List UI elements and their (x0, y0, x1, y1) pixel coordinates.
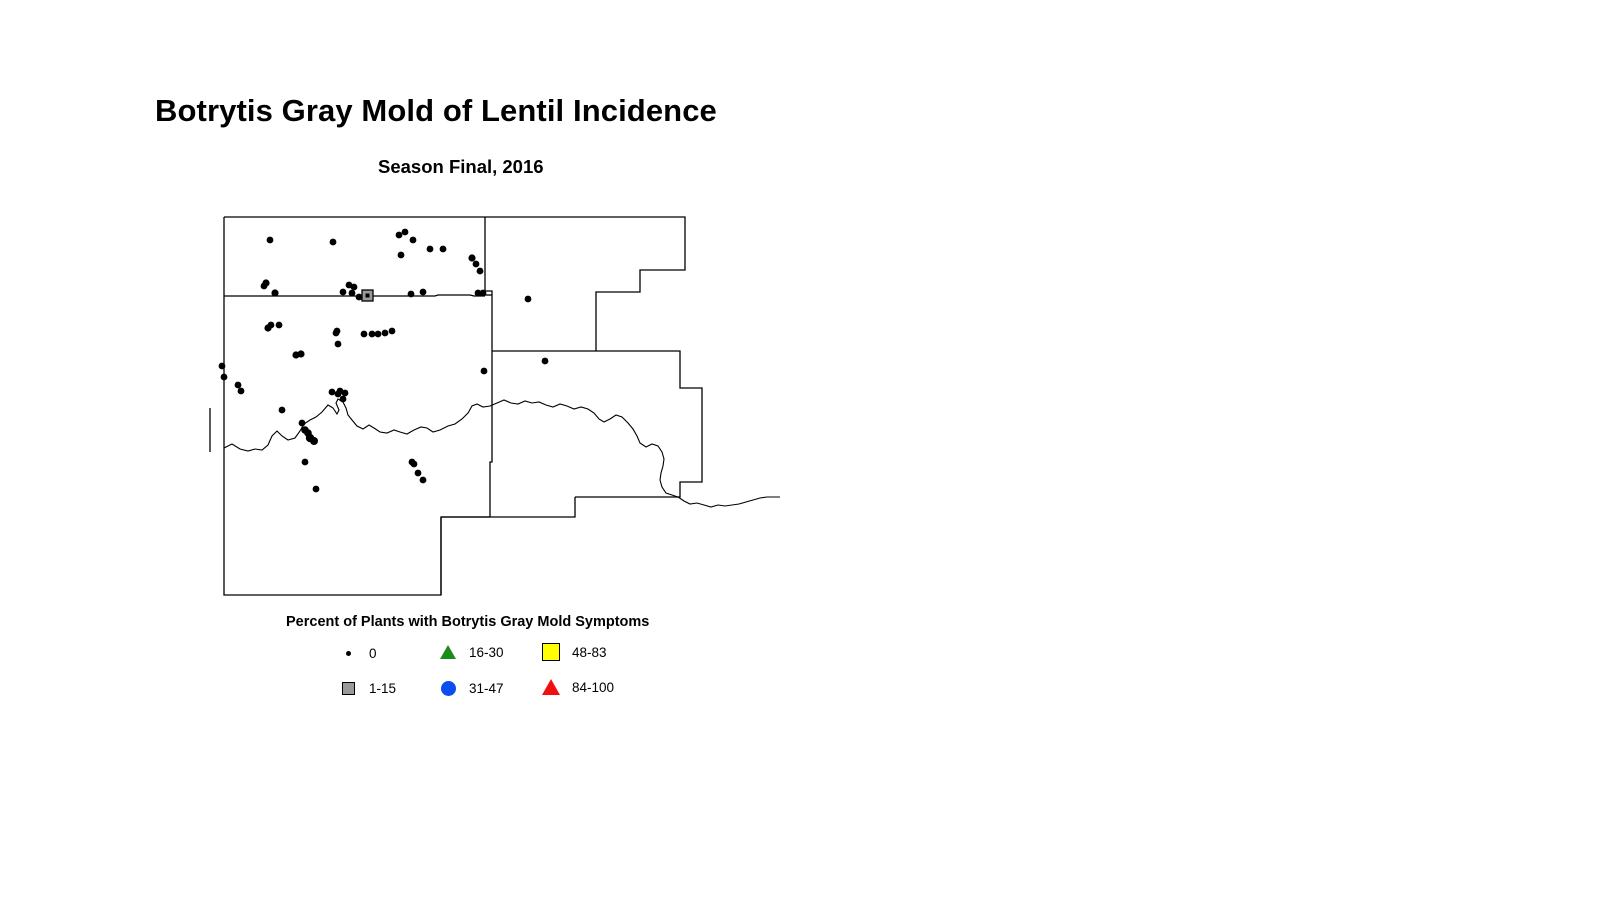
legend-title: Percent of Plants with Botrytis Gray Mol… (286, 614, 649, 630)
data-point (410, 237, 417, 244)
map-figure: Botrytis Gray Mold of Lentil Incidence S… (0, 0, 1612, 900)
boundary-north-vertical (485, 217, 492, 316)
data-point (402, 229, 409, 236)
data-point (389, 328, 396, 335)
data-point (279, 407, 286, 414)
data-point (267, 237, 274, 244)
map-plot-area (200, 200, 1180, 620)
data-point (235, 382, 242, 389)
data-point (297, 350, 304, 357)
page-title: Botrytis Gray Mold of Lentil Incidence (155, 93, 717, 129)
data-point (304, 429, 312, 437)
legend-entry-1-15[interactable]: 1-15 (338, 678, 396, 698)
legend-label-1-15: 1-15 (369, 681, 396, 696)
data-point (351, 284, 358, 291)
data-point (361, 331, 368, 338)
data-points-1-15 (362, 290, 373, 301)
yellow-square-icon (541, 642, 561, 662)
data-point (302, 459, 309, 466)
legend: Percent of Plants with Botrytis Gray Mol… (200, 612, 900, 712)
gray-square-icon (338, 678, 358, 698)
legend-label-0: 0 (369, 646, 377, 661)
data-point (525, 296, 532, 303)
data-point (310, 437, 318, 445)
boundary-outer-west (224, 217, 490, 595)
data-point (334, 328, 341, 335)
data-point (268, 322, 275, 329)
legend-label-31-47: 31-47 (469, 681, 504, 696)
data-point (398, 252, 405, 259)
legend-entry-0[interactable]: 0 (338, 643, 377, 663)
boundary-south-east-edge (441, 497, 575, 517)
legend-entry-48-83[interactable]: 48-83 (541, 642, 607, 662)
map-svg (200, 200, 1180, 620)
data-point (477, 268, 484, 275)
boundary-east-west-edge (490, 316, 492, 517)
data-point (382, 330, 389, 337)
data-point (340, 396, 347, 403)
small-black-dot-icon (338, 643, 358, 663)
data-point (468, 254, 475, 261)
data-point (420, 289, 427, 296)
boundary-river (224, 399, 678, 497)
data-point (396, 232, 403, 239)
data-point (375, 331, 382, 338)
data-point (415, 470, 422, 477)
data-point (221, 374, 228, 381)
legend-entry-31-47[interactable]: 31-47 (438, 678, 504, 698)
map-boundaries (210, 217, 780, 595)
data-point (238, 388, 245, 395)
green-triangle-icon (438, 642, 458, 662)
data-point (329, 389, 336, 396)
data-points-zero (219, 229, 549, 493)
data-point (349, 290, 356, 297)
legend-label-48-83: 48-83 (572, 645, 607, 660)
red-triangle-icon (541, 677, 561, 697)
data-point (427, 246, 434, 253)
boundary-river-south (678, 497, 780, 507)
data-point (330, 239, 337, 246)
boundary-east-top (492, 351, 702, 497)
data-point (369, 331, 376, 338)
legend-entry-84-100[interactable]: 84-100 (541, 677, 614, 697)
data-point (481, 368, 488, 375)
data-point (271, 289, 278, 296)
data-point (408, 291, 415, 298)
data-point (313, 486, 320, 493)
boundary-northeast-top (485, 217, 685, 351)
data-point (335, 341, 342, 348)
data-point (219, 363, 226, 370)
data-point (261, 283, 268, 290)
data-point (337, 388, 344, 395)
figure-subtitle: Season Final, 2016 (378, 156, 544, 178)
data-point-gray-square-center (366, 294, 370, 298)
legend-label-84-100: 84-100 (572, 680, 614, 695)
legend-label-16-30: 16-30 (469, 645, 504, 660)
data-point (480, 290, 487, 297)
blue-circle-icon (438, 678, 458, 698)
data-point (276, 322, 283, 329)
data-point (473, 261, 480, 268)
data-point (340, 289, 347, 296)
data-point (542, 358, 549, 365)
data-point (440, 246, 447, 253)
legend-entry-16-30[interactable]: 16-30 (438, 642, 504, 662)
data-point (420, 477, 427, 484)
data-point (411, 461, 418, 468)
data-point (299, 420, 306, 427)
